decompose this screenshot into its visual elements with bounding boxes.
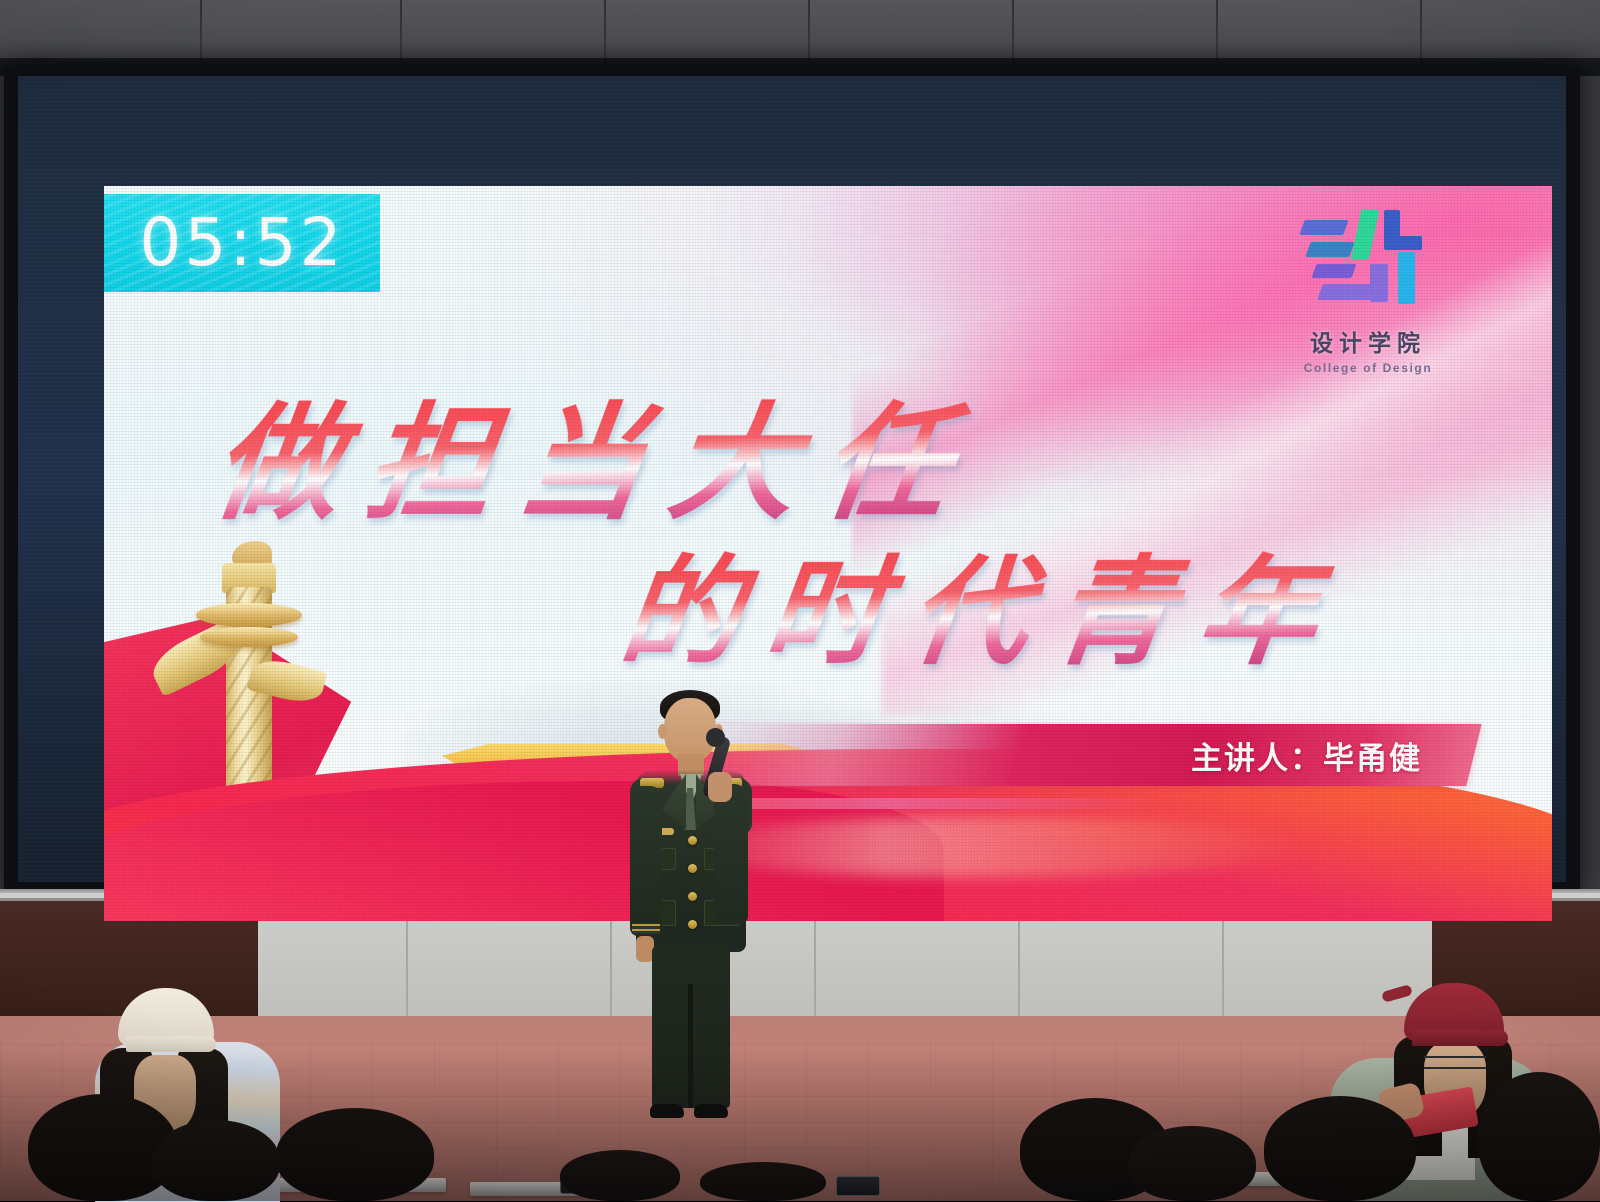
college-logo-name-cn: 设计学院 [1280, 324, 1456, 358]
presenter-uniform-button [688, 892, 697, 901]
presenter-ear [658, 724, 667, 739]
lecture-hall-room: 05:52 设计学院 Co [0, 0, 1600, 1201]
red-cap-brim [1412, 1030, 1508, 1046]
slide-title-line2: 的时代青年 [614, 516, 1355, 687]
presenter [626, 688, 754, 1128]
led-screen[interactable]: 05:52 设计学院 Co [4, 66, 1580, 896]
audience-head [700, 1162, 826, 1201]
presenter-uniform-button [688, 920, 697, 929]
led-screen-letterbox: 05:52 设计学院 Co [18, 76, 1566, 882]
presenter-cuff-stripes [632, 924, 660, 934]
audience-head [1478, 1072, 1600, 1201]
speaker-banner-text: 主讲人：毕甬健 [1191, 724, 1422, 786]
audience-head [1264, 1096, 1416, 1201]
presenter-shoe [650, 1104, 684, 1118]
college-logo: 设计学院 College of Design [1280, 208, 1456, 375]
presenter-trouser-gap [688, 984, 693, 1108]
phone-icon [836, 1176, 880, 1196]
presentation-slide: 05:52 设计学院 Co [104, 186, 1552, 921]
audience-head [276, 1108, 434, 1201]
countdown-timer-value: 05:52 [139, 210, 344, 276]
college-of-design-logo-icon [1298, 208, 1438, 320]
audience-head [560, 1150, 680, 1201]
audience-head [152, 1120, 280, 1201]
college-logo-name-en: College of Design [1280, 361, 1456, 375]
white-cap-brim [126, 1036, 216, 1052]
presenter-shoe [694, 1104, 728, 1118]
presenter-left-arm [630, 786, 662, 936]
audience-head [1128, 1126, 1256, 1201]
speaker-banner: 主讲人：毕甬健 [686, 724, 1481, 786]
microphone-head [706, 728, 725, 747]
presenter-right-arm [714, 784, 748, 924]
presenter-uniform-button [688, 836, 697, 845]
presenter-uniform-button [688, 864, 697, 873]
presenter-right-hand [708, 772, 732, 802]
ribbon-highlight [664, 817, 1304, 877]
glasses-icon [1424, 1056, 1486, 1069]
countdown-timer[interactable]: 05:52 [104, 194, 380, 292]
